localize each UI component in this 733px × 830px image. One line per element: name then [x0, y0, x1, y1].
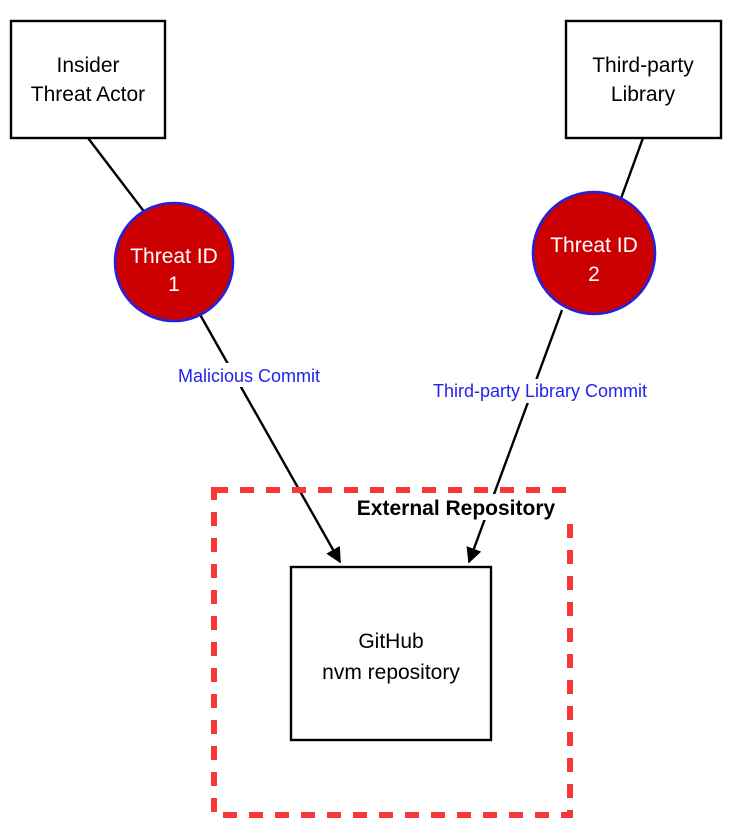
diagram-canvas: Insider Threat Actor Third-party Library…	[0, 0, 733, 830]
node-github-nvm-repository[interactable]: GitHub nvm repository	[291, 567, 491, 740]
node-threat-id-2-label-line2: 2	[588, 263, 600, 286]
edge-threat1-to-repo	[198, 311, 340, 562]
edge-label-third-party-library-commit-group: Third-party Library Commit	[405, 379, 675, 403]
edge-label-malicious-commit-group: Malicious Commit	[160, 363, 338, 387]
node-github-nvm-repository-shape	[291, 567, 491, 740]
edge-library-to-threat2	[619, 138, 643, 204]
group-external-repository-label-group: External Repository	[338, 494, 574, 520]
node-threat-id-1-label-line1: Threat ID	[130, 245, 218, 268]
group-external-repository-label: External Repository	[357, 497, 556, 520]
edge-insider-to-threat1	[88, 138, 152, 222]
node-github-nvm-repository-label-line2: nvm repository	[322, 661, 460, 684]
edge-threat2-to-repo	[469, 310, 562, 562]
node-insider-threat-actor[interactable]: Insider Threat Actor	[11, 21, 165, 138]
node-threat-id-1-label-line2: 1	[168, 273, 180, 296]
edge-label-third-party-library-commit: Third-party Library Commit	[433, 381, 647, 401]
node-threat-id-1[interactable]: Threat ID 1	[115, 203, 233, 321]
node-third-party-library-label-line2: Library	[611, 83, 676, 106]
node-insider-threat-actor-shape	[11, 21, 165, 138]
node-threat-id-2-label-line1: Threat ID	[550, 234, 638, 257]
node-insider-threat-actor-label-line2: Threat Actor	[31, 83, 145, 106]
node-github-nvm-repository-label-line1: GitHub	[358, 630, 423, 653]
node-insider-threat-actor-label-line1: Insider	[56, 54, 119, 77]
threat-flow-diagram: Insider Threat Actor Third-party Library…	[0, 0, 733, 830]
node-third-party-library[interactable]: Third-party Library	[566, 21, 721, 138]
node-third-party-library-shape	[566, 21, 721, 138]
node-threat-id-2[interactable]: Threat ID 2	[533, 192, 655, 314]
edge-label-malicious-commit: Malicious Commit	[178, 366, 320, 386]
node-third-party-library-label-line1: Third-party	[592, 54, 694, 77]
